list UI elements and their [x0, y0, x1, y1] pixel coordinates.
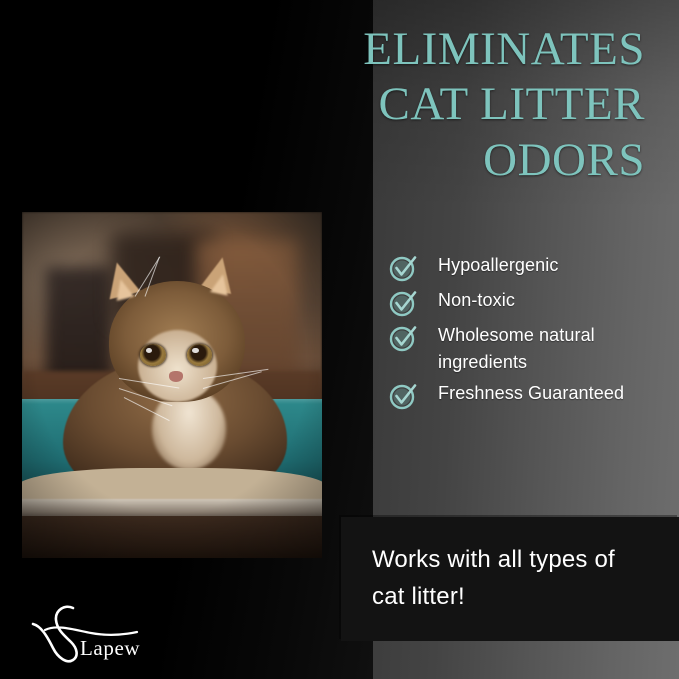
feature-item: Wholesome natural ingredients	[388, 322, 668, 376]
feature-label: Non-toxic	[438, 287, 515, 314]
feature-list: Hypoallergenic Non-toxic Wholesome n	[388, 252, 668, 415]
feature-label: Hypoallergenic	[438, 252, 558, 279]
kitten-nose	[169, 371, 183, 382]
headline-line-2: CAT LITTER	[25, 77, 645, 132]
product-ad-banner: ELIMINATES CAT LITTER ODORS Hypoallergen…	[0, 0, 679, 679]
feature-label: Wholesome natural ingredients	[438, 322, 668, 376]
circle-check-icon	[388, 381, 418, 411]
kitten-eye-left	[140, 344, 166, 366]
caption-box: Works with all types of cat litter!	[341, 517, 679, 641]
caption-text: Works with all types of cat litter!	[372, 541, 652, 615]
circle-check-icon	[388, 288, 418, 318]
brand-logo: Lapew	[25, 600, 175, 666]
headline-line-3: ODORS	[25, 133, 645, 188]
kitten-muzzle	[138, 330, 218, 403]
headline: ELIMINATES CAT LITTER ODORS	[25, 22, 645, 188]
brand-wordmark: Lapew	[80, 636, 140, 661]
photo-litter-box-front	[22, 516, 322, 558]
kitten-eye-right	[187, 344, 213, 366]
photo-kitten	[58, 257, 292, 499]
headline-line-1: ELIMINATES	[25, 22, 645, 77]
kitten-litter-box-photo	[22, 212, 322, 558]
feature-item: Hypoallergenic	[388, 252, 668, 283]
circle-check-icon	[388, 253, 418, 283]
circle-check-icon	[388, 323, 418, 353]
feature-item: Freshness Guaranteed	[388, 380, 668, 411]
feature-item: Non-toxic	[388, 287, 668, 318]
feature-label: Freshness Guaranteed	[438, 380, 624, 407]
